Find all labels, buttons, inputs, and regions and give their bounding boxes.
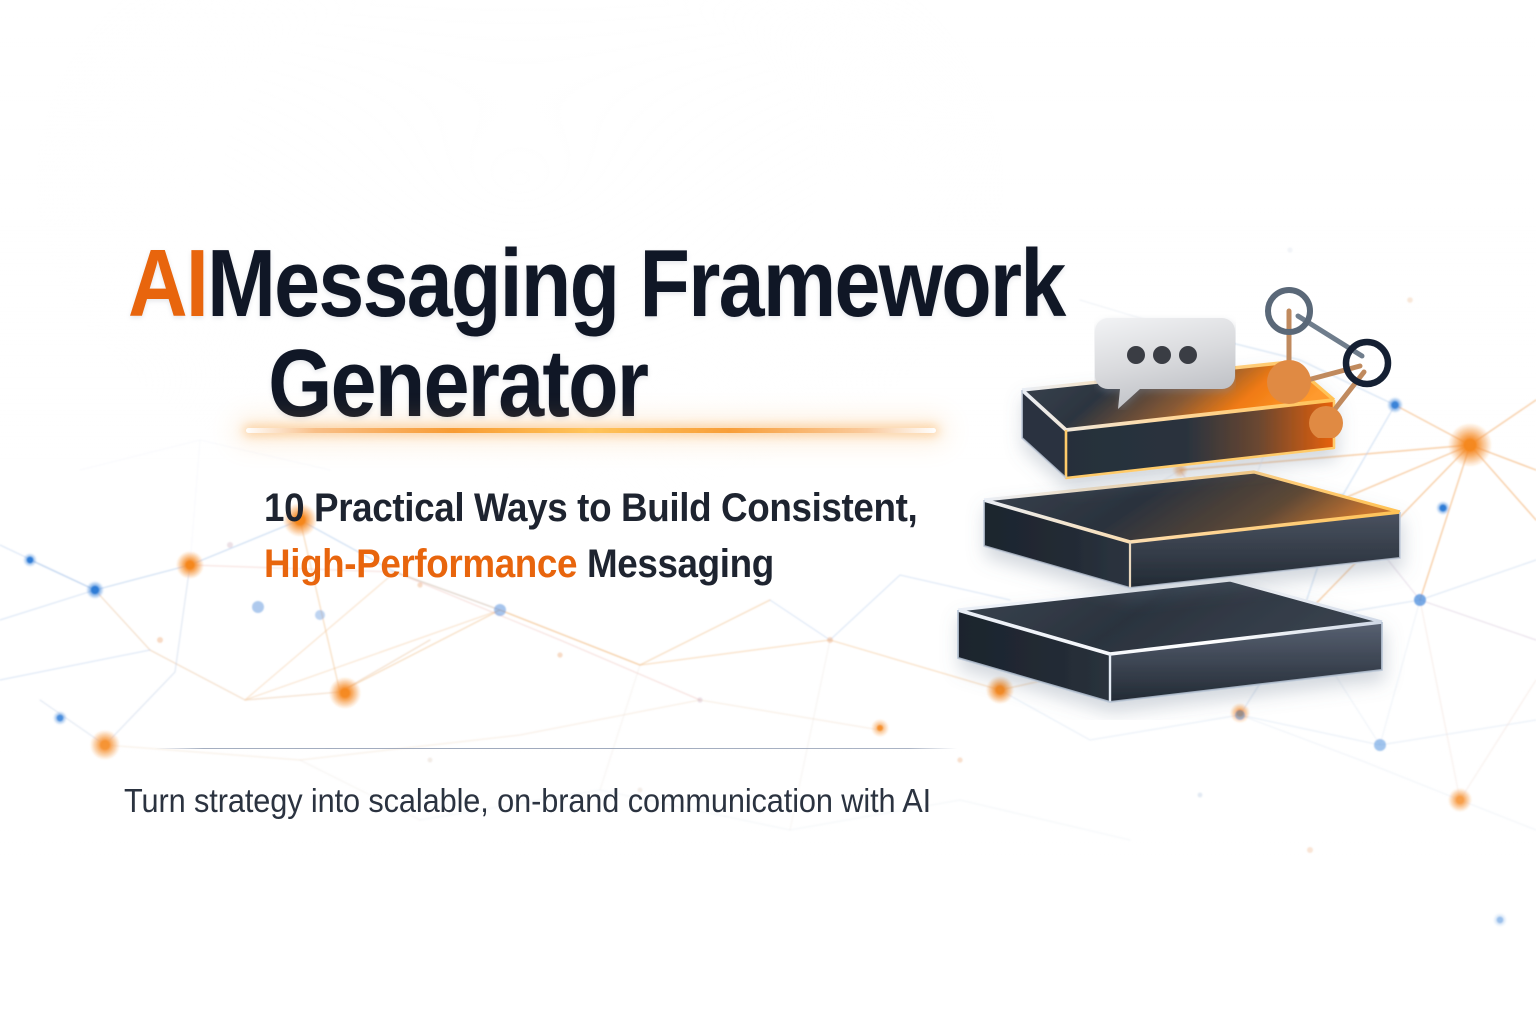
tagline: Turn strategy into scalable, on-brand co…	[124, 782, 931, 820]
page-title-line-2: Generator	[128, 336, 647, 432]
page-title-line-1: AIMessaging Framework	[128, 236, 1065, 332]
bubble-dot-1	[1127, 346, 1145, 364]
subtitle-line-1: 10 Practical Ways to Build Consistent,	[264, 488, 917, 528]
node-outline-right	[1346, 342, 1388, 384]
hero-banner: AIMessaging Framework Generator 10 Pract…	[0, 0, 1536, 1024]
subtitle-line-2: High-Performance Messaging	[264, 544, 774, 584]
bubble-dot-2	[1153, 346, 1171, 364]
node-filled-left	[1267, 360, 1311, 404]
thin-horizontal-rule	[155, 748, 957, 749]
subtitle-line-2-rest: Messaging	[577, 542, 774, 586]
node-filled-bottom	[1309, 406, 1343, 438]
page-title-rest: Messaging Framework	[207, 230, 1064, 337]
subtitle-highlight: High-Performance	[264, 542, 577, 586]
network-nodes-icon	[1252, 278, 1412, 438]
page-title-generator: Generator	[268, 330, 647, 437]
hero-text-block: AIMessaging Framework Generator 10 Pract…	[0, 0, 1060, 1024]
chat-bubble-icon	[1094, 314, 1236, 410]
bubble-dot-3	[1179, 346, 1197, 364]
orange-glow-underline	[246, 428, 936, 433]
ai-wordmark: AI	[128, 230, 207, 337]
